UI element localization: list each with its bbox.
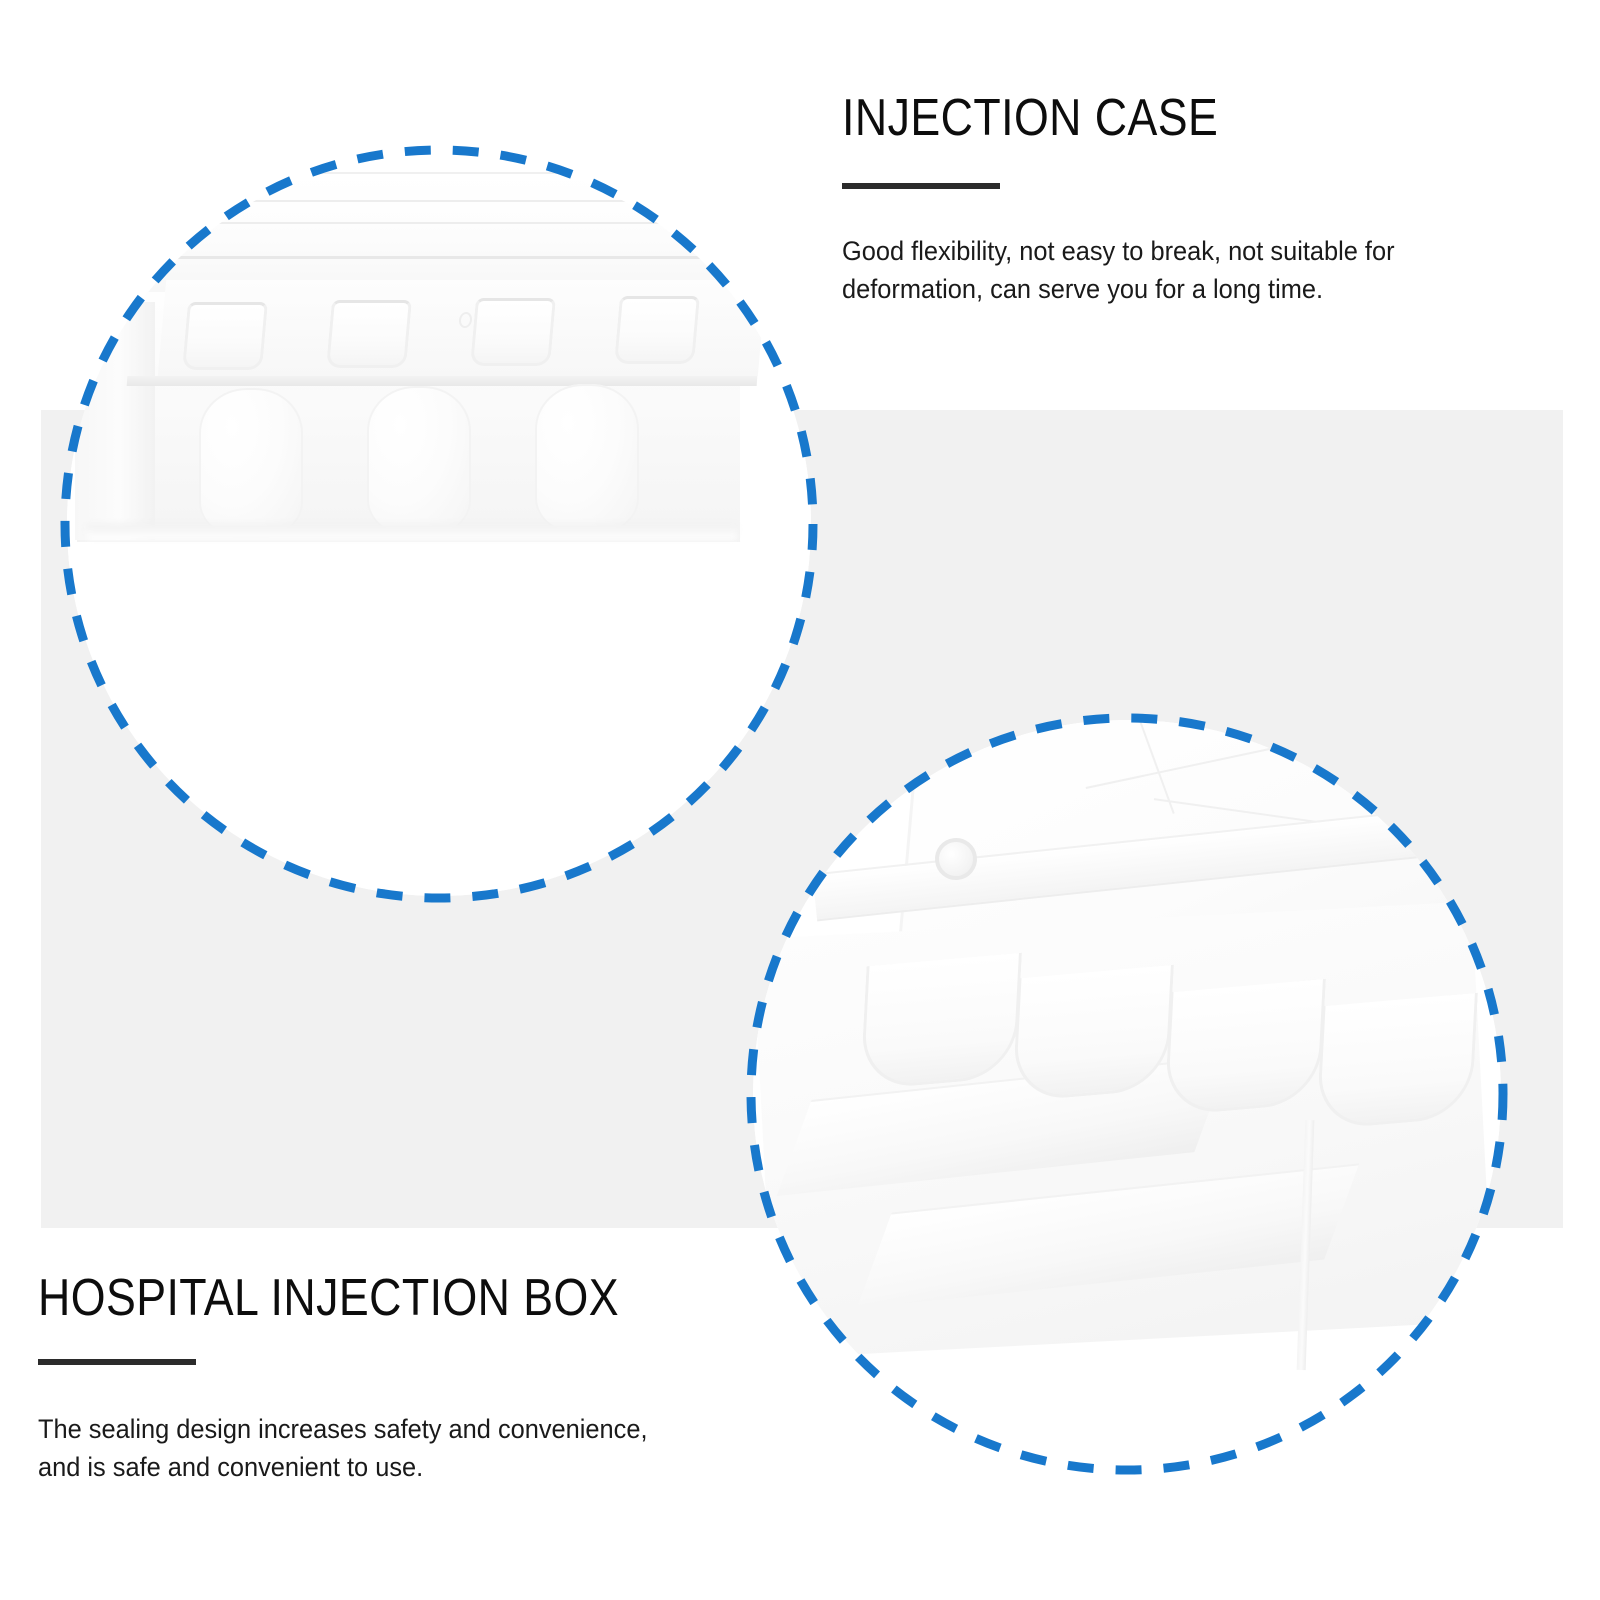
vial-outline (367, 386, 471, 536)
case-left-edge (75, 302, 155, 540)
lid-seam-2 (145, 222, 725, 224)
product-photo-bottom-right (753, 720, 1501, 1468)
accent-bar (38, 1359, 196, 1365)
vial-slot (470, 298, 556, 366)
tray-rail (127, 376, 758, 386)
feature-description: The sealing design increases safety and … (38, 1410, 677, 1487)
vial-outline (535, 384, 639, 534)
vial-slot (326, 300, 412, 368)
section-title: HOSPITAL INJECTION BOX (38, 1272, 606, 1325)
lid-seam-3 (153, 256, 713, 259)
vial-outline (199, 388, 303, 538)
lid-seam-1 (137, 200, 737, 202)
feature-block-injection-case: INJECTION CASE Good flexibility, not eas… (842, 92, 1502, 336)
feature-description: Good flexibility, not easy to break, not… (842, 232, 1481, 309)
injection-box-open-scene (753, 720, 1501, 1468)
page-title: INJECTION CASE (842, 92, 1410, 145)
product-callout-top-left (58, 143, 820, 905)
product-callout-bottom-right (744, 711, 1510, 1477)
case-base-shadow (87, 524, 737, 540)
vial-slot (182, 302, 268, 370)
product-photo-top-left (67, 152, 811, 896)
feature-block-hospital-injection-box: HOSPITAL INJECTION BOX The sealing desig… (38, 1272, 698, 1514)
injection-case-front-scene (67, 152, 811, 896)
accent-bar (842, 183, 1000, 189)
vial-slot (614, 296, 700, 364)
